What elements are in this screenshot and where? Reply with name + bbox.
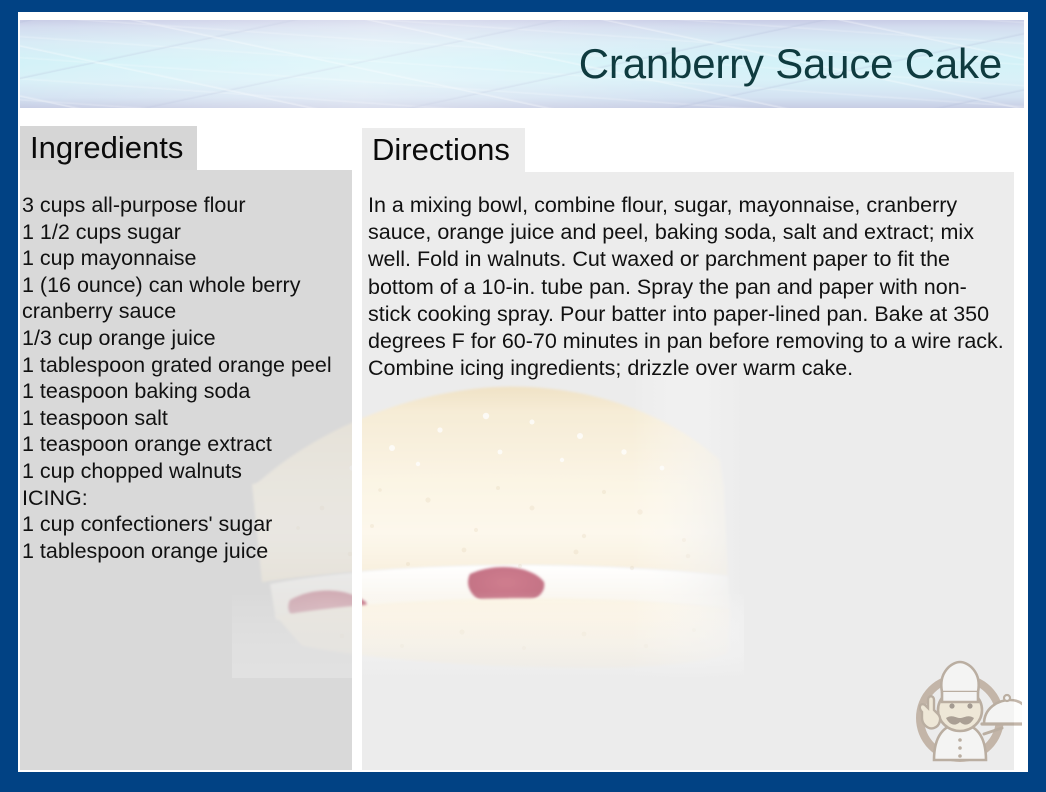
ingredient-line: 1 tablespoon orange juice: [22, 538, 352, 565]
card-border-bottom: [0, 772, 1046, 792]
card-border-right: [1028, 0, 1046, 792]
card-border-top: [0, 0, 1046, 12]
panel-gutter: [352, 170, 362, 772]
ingredient-line: 1 (16 ounce) can whole berry: [22, 272, 352, 299]
ingredient-line: 1 tablespoon grated orange peel: [22, 352, 352, 379]
ingredient-line: 3 cups all-purpose flour: [22, 192, 352, 219]
ingredient-line: 1 cup chopped walnuts: [22, 458, 352, 485]
ingredients-heading: Ingredients: [20, 126, 197, 170]
directions-body: In a mixing bowl, combine flour, sugar, …: [368, 192, 1004, 382]
ingredient-line: cranberry sauce: [22, 298, 352, 325]
ingredients-list: 3 cups all-purpose flour1 1/2 cups sugar…: [22, 192, 352, 564]
ingredient-line: 1 1/2 cups sugar: [22, 219, 352, 246]
ingredient-line: 1 teaspoon salt: [22, 405, 352, 432]
ingredient-line: 1 teaspoon baking soda: [22, 378, 352, 405]
chef-logo-icon: [898, 648, 1022, 772]
page-title: Cranberry Sauce Cake: [579, 40, 1002, 88]
ingredient-line: ICING:: [22, 485, 352, 512]
ingredient-line: 1 teaspoon orange extract: [22, 431, 352, 458]
ingredient-line: 1/3 cup orange juice: [22, 325, 352, 352]
header-banner: Cranberry Sauce Cake: [20, 20, 1024, 108]
ingredient-line: 1 cup mayonnaise: [22, 245, 352, 272]
ingredient-line: 1 cup confectioners' sugar: [22, 511, 352, 538]
card-border-left: [0, 0, 18, 792]
recipe-card: Cranberry Sauce Cake Ingredients Directi…: [0, 0, 1046, 792]
directions-heading: Directions: [362, 128, 525, 172]
